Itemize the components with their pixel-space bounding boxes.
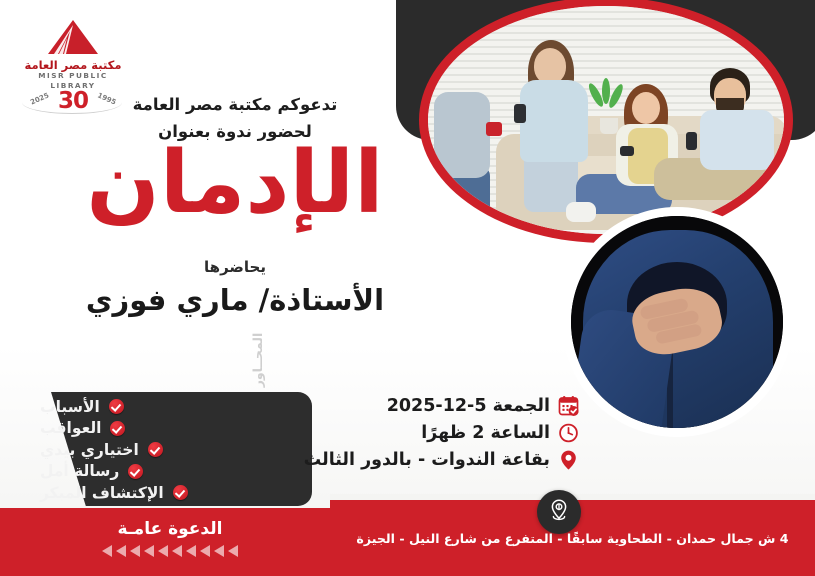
arrow-triangle-icon (102, 545, 112, 557)
topics-axis-label: المحــاور (250, 314, 265, 406)
topic-label: العواقب (40, 419, 101, 437)
clock-icon (558, 422, 579, 444)
woman-seated-phone (620, 146, 634, 156)
detail-row-date: الجمعة 5-12-2025 (337, 392, 579, 419)
topic-label: الأسباب (40, 398, 100, 416)
event-details: الجمعة 5-12-2025 الساعة 2 ظهرًا بقاع (337, 392, 579, 473)
location-pin-icon (558, 449, 579, 471)
speaker-prefix: يحاضرها (85, 258, 385, 276)
arrow-triangle-icon (200, 545, 210, 557)
arrow-triangle-icon (214, 545, 224, 557)
open-invitation-text: الدعوة عامـة (60, 519, 280, 539)
detail-row-location: بقاعة الندوات - بالدور الثالث (337, 446, 579, 473)
man-seated-phone (686, 132, 697, 150)
man-seated-body (700, 110, 774, 170)
page-title: الإدمان (75, 140, 395, 226)
photo-scene-top (428, 6, 784, 234)
topic-label: الإكتشاف المبكر (40, 484, 164, 502)
arrow-triangle-icon (186, 545, 196, 557)
person-left-body (434, 92, 490, 178)
topic-item: الإكتشاف المبكر (40, 482, 276, 504)
check-circle-icon (109, 399, 124, 414)
topic-item: اختياري بيدي (40, 439, 276, 461)
hooded-person-photo (571, 216, 783, 428)
detail-row-time: الساعة 2 ظهرًا (337, 419, 579, 446)
topic-item: العواقب (40, 418, 276, 440)
logo-name-arabic: مكتبة مصر العامة (14, 59, 132, 71)
invitation-line-1: تدعوكم مكتبة مصر العامة (85, 92, 385, 119)
topic-item: رسالة أمل (40, 461, 276, 483)
check-circle-icon (128, 464, 143, 479)
arrow-triangle-icon (172, 545, 182, 557)
people-on-couch-photo (428, 6, 784, 234)
topic-label: اختياري بيدي (40, 441, 139, 459)
arrow-decoration-strip (60, 545, 280, 557)
woman-seated-head (632, 92, 660, 124)
check-circle-icon (110, 421, 125, 436)
detail-text-location: بقاعة الندوات - بالدور الثالث (304, 450, 550, 470)
arrow-triangle-icon (228, 545, 238, 557)
woman-standing-head (534, 48, 566, 84)
check-circle-icon (173, 485, 188, 500)
arrow-triangle-icon (130, 545, 140, 557)
detail-text-time: الساعة 2 ظهرًا (421, 423, 550, 443)
house-plant (588, 78, 628, 128)
arrow-triangle-icon (116, 545, 126, 557)
event-poster: مكتبة مصر العامة MISR PUBLIC LIBRARY 202… (0, 0, 815, 576)
detail-text-date: الجمعة 5-12-2025 (387, 396, 550, 416)
topics-list: الأسباب العواقب اختياري بيدي رسالة أمل ا… (40, 396, 276, 504)
location-pin-icon (546, 497, 572, 527)
topic-item: الأسباب (40, 396, 276, 418)
footer-address: 4 ش جمال حمدان - الطحاوية سابقًا - المتف… (335, 531, 810, 546)
woman-standing-body (520, 80, 588, 162)
topic-label: رسالة أمل (40, 462, 119, 480)
woman-standing-phone (514, 104, 526, 123)
arrow-triangle-icon (158, 545, 168, 557)
calendar-icon (558, 395, 579, 417)
check-circle-icon (148, 442, 163, 457)
footer-location-badge (537, 490, 581, 534)
arrow-triangle-icon (144, 545, 154, 557)
logo-pyramid-icon (36, 18, 110, 58)
speaker-name: الأستاذة/ ماري فوزي (75, 283, 395, 318)
person-left-phone (486, 122, 502, 136)
